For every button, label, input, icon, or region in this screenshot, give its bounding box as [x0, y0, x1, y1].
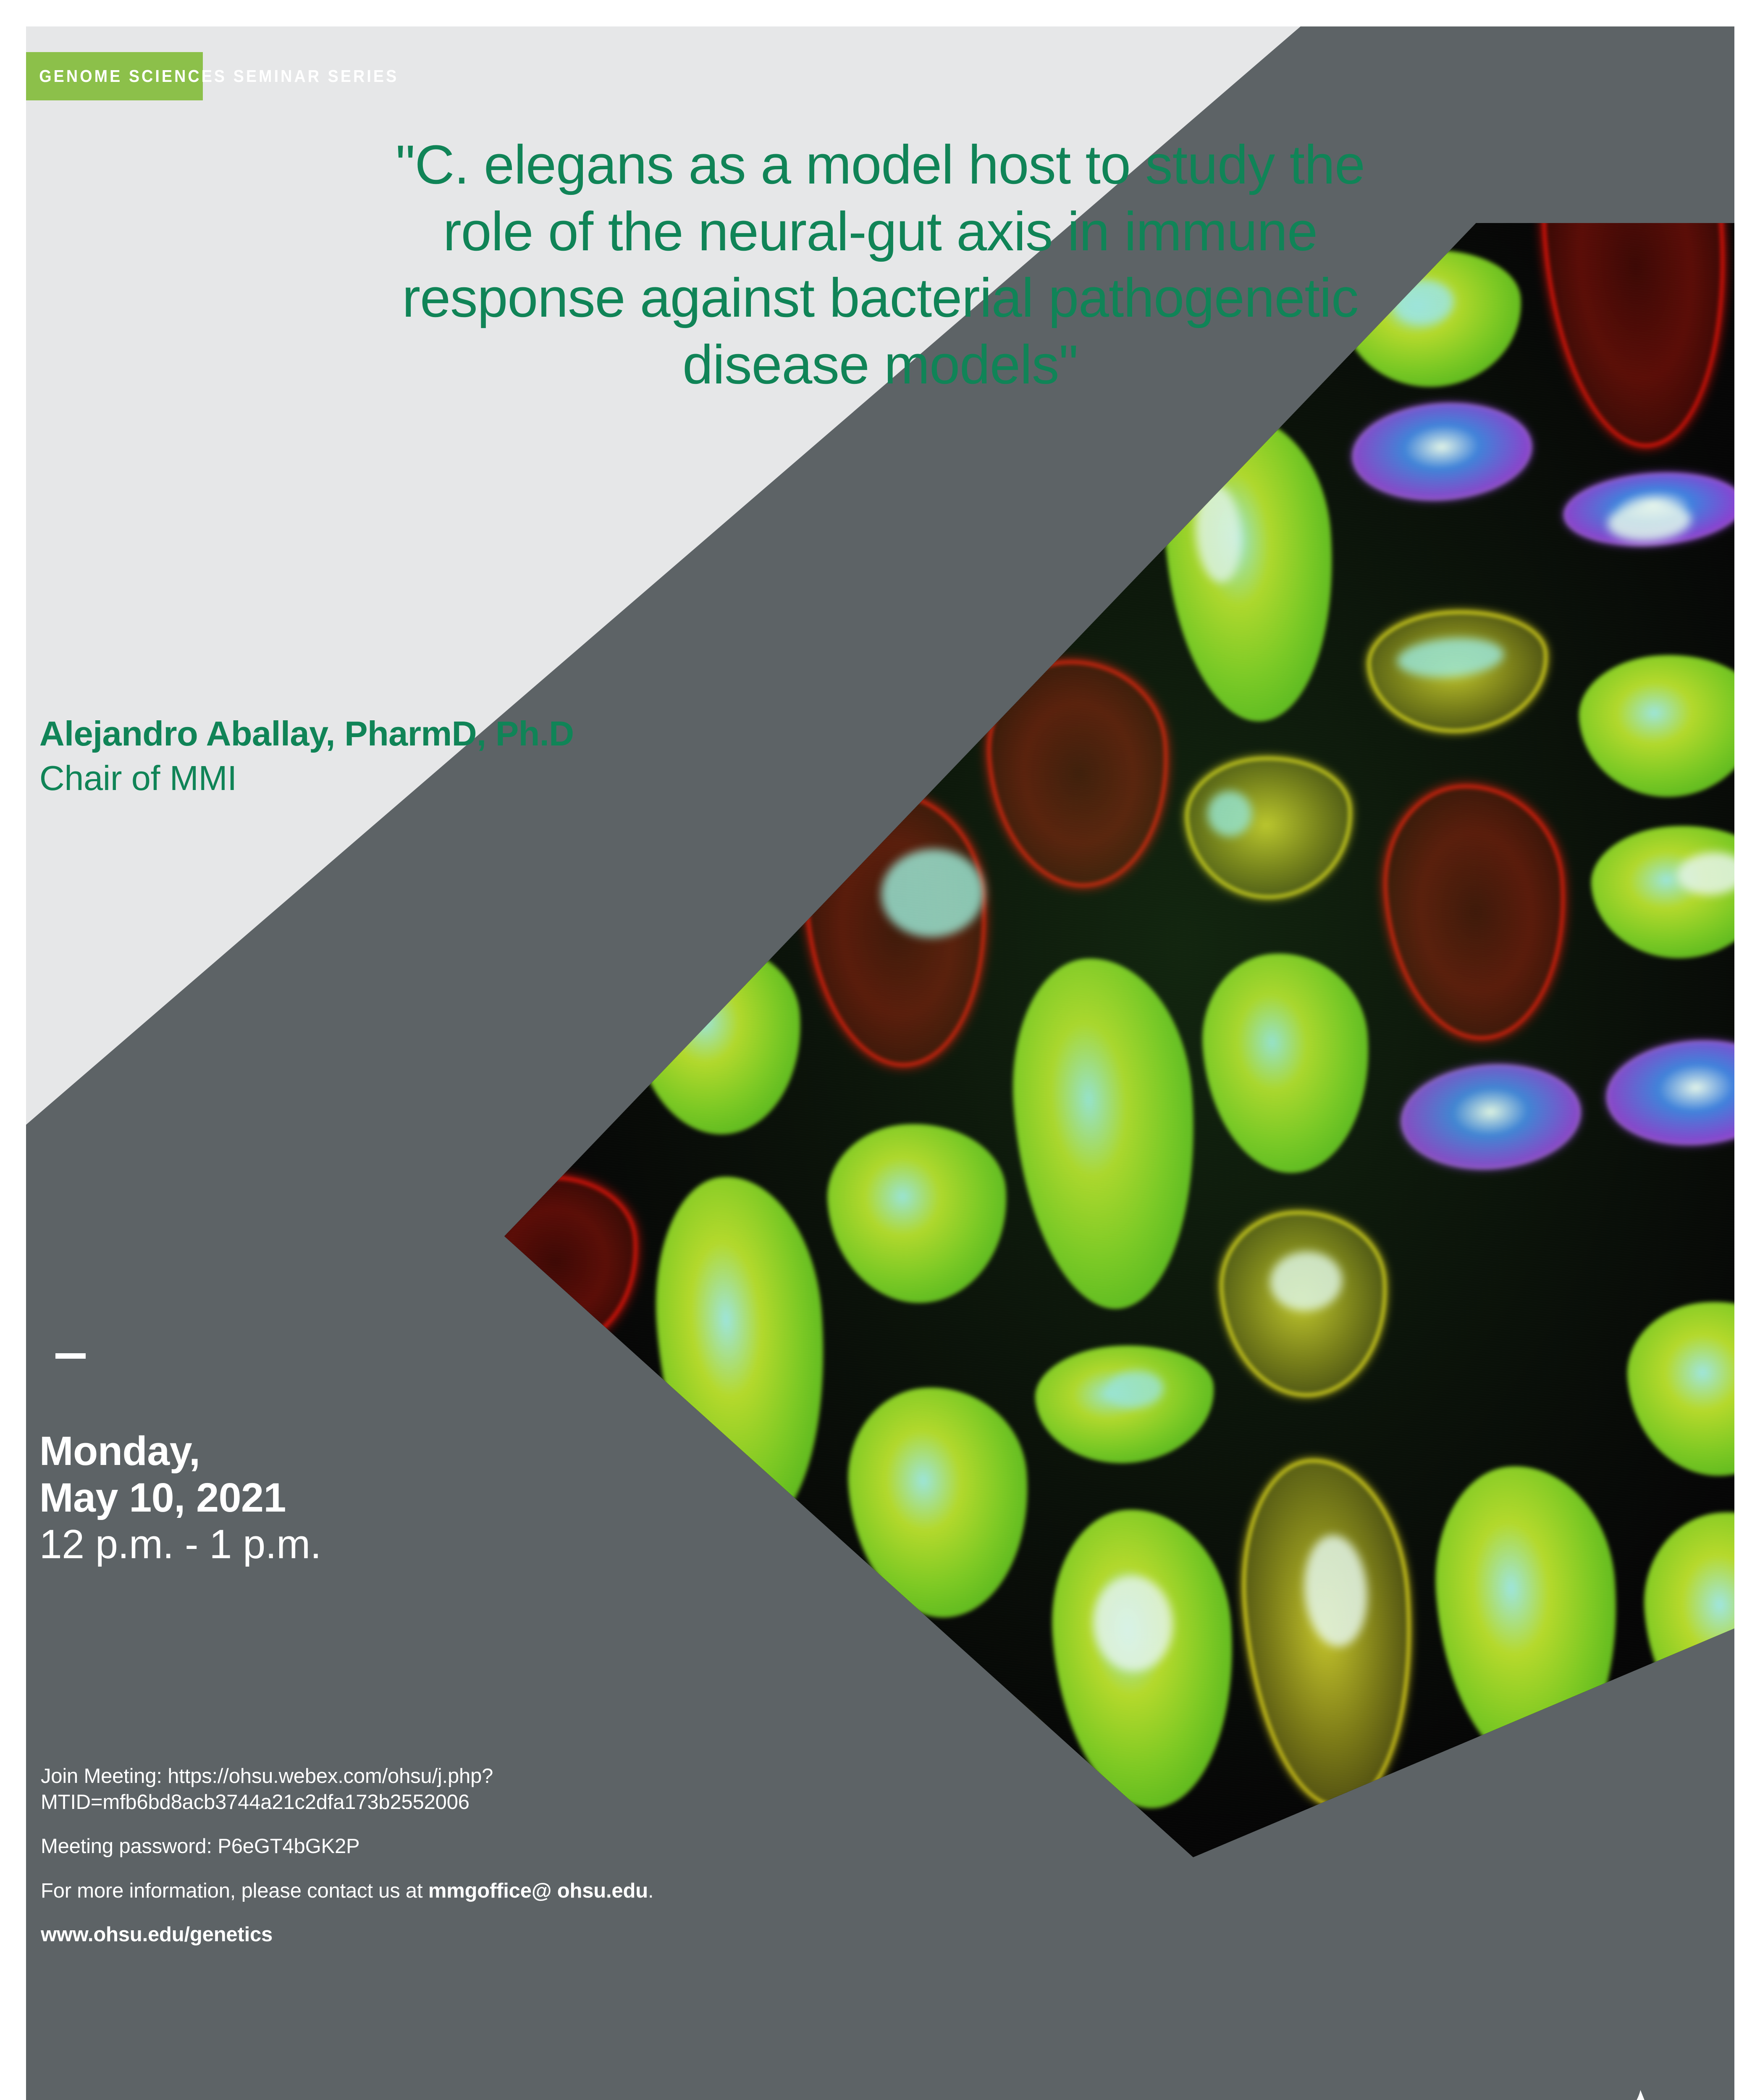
contact-block: For more information, please contact us …: [41, 1878, 1100, 1904]
title-line-2: role of the neural-gut axis in immune: [47, 198, 1713, 265]
contact-suffix: .: [648, 1879, 653, 1902]
meeting-info: Join Meeting: https://ohsu.webex.com/ohs…: [41, 1764, 1100, 1946]
ohsu-flame-icon: [1554, 2087, 1669, 2100]
title-line-4: disease models": [47, 331, 1713, 398]
title-line-3: response against bacterial pathogenetic: [47, 265, 1713, 331]
title-line-1: "C. elegans as a model host to study the: [47, 131, 1713, 198]
event-time: 12 p.m. - 1 p.m.: [39, 1521, 321, 1567]
speaker-block: Alejandro Aballay, PharmD, Ph.D Chair of…: [39, 714, 574, 803]
contact-email[interactable]: mmgoffice@ ohsu.edu: [428, 1879, 648, 1902]
event-datetime: Monday, May 10, 2021 12 p.m. - 1 p.m.: [39, 1428, 321, 1567]
seminar-title: "C. elegans as a model host to study the…: [26, 131, 1734, 398]
divider-rule: [55, 1353, 86, 1359]
event-date: May 10, 2021: [39, 1474, 321, 1521]
meeting-password-block: Meeting password: P6eGT4bGK2P: [41, 1834, 1100, 1860]
seminar-poster: GENOME SCIENCES SEMINAR SERIES "C. elega…: [26, 26, 1734, 2100]
join-meeting-url-line-2[interactable]: MTID=mfb6bd8acb3744a21c2dfa173b2552006: [41, 1790, 1100, 1816]
ohsu-logo: OHSU: [1554, 2087, 1669, 2100]
series-banner-label: GENOME SCIENCES SEMINAR SERIES: [26, 66, 399, 86]
contact-line: For more information, please contact us …: [41, 1878, 1100, 1904]
speaker-name: Alejandro Aballay, PharmD, Ph.D: [39, 714, 574, 753]
join-meeting-block: Join Meeting: https://ohsu.webex.com/ohs…: [41, 1764, 1100, 1815]
event-day: Monday,: [39, 1428, 321, 1474]
join-meeting-url-line-1[interactable]: Join Meeting: https://ohsu.webex.com/ohs…: [41, 1764, 1100, 1790]
contact-prefix: For more information, please contact us …: [41, 1879, 428, 1902]
series-banner: GENOME SCIENCES SEMINAR SERIES: [26, 52, 203, 100]
speaker-role: Chair of MMI: [39, 753, 574, 803]
website-link[interactable]: www.ohsu.edu/genetics: [41, 1923, 1100, 1946]
meeting-password: Meeting password: P6eGT4bGK2P: [41, 1834, 1100, 1860]
